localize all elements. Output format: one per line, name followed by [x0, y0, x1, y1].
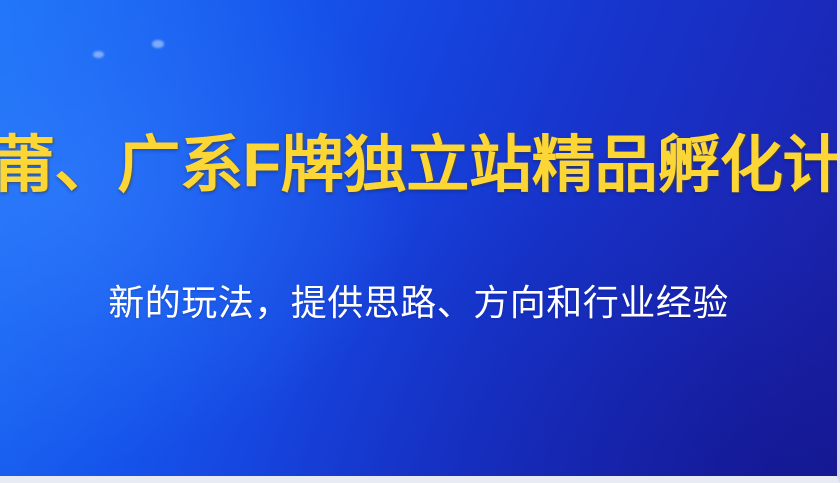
banner-headline: 莆、广系F牌独立站精品孵化计划	[0, 133, 840, 200]
banner-subheadline: 新的玩法，提供思路、方向和行业经验	[0, 281, 837, 324]
promo-banner: 莆、广系F牌独立站精品孵化计划 新的玩法，提供思路、方向和行业经验	[0, 0, 840, 483]
banner-content: 莆、广系F牌独立站精品孵化计划 新的玩法，提供思路、方向和行业经验	[0, 0, 837, 476]
